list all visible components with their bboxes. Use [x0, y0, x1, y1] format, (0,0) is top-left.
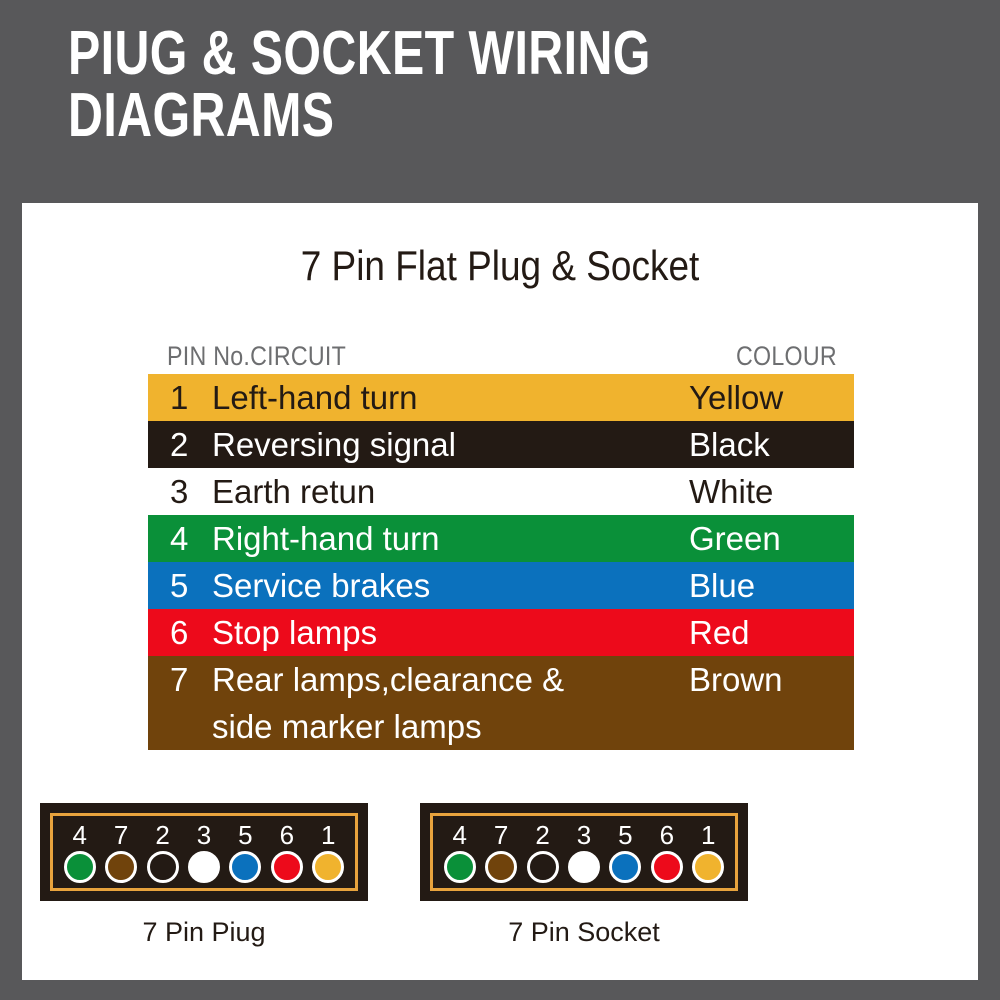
connector-pin-number: 7 — [494, 821, 508, 849]
row-pin-number: 4 — [170, 515, 208, 562]
table-row: 3Earth retunWhite — [148, 468, 854, 515]
connector-pin: 3 — [183, 821, 224, 883]
table-row: 7Rear lamps,clearance & side marker lamp… — [148, 656, 854, 750]
row-circuit-label: Earth retun — [208, 468, 685, 515]
connector-pin-number: 6 — [280, 821, 294, 849]
socket-diagram-block: 47235617 Pin Socket — [420, 803, 748, 947]
plug-caption: 7 Pin Piug — [40, 917, 368, 947]
connector-pin-dot — [444, 851, 476, 883]
content-card: 7 Pin Flat Plug & Socket PIN No.CIRCUIT … — [22, 203, 978, 980]
connector-pin-number: 7 — [114, 821, 128, 849]
connector-pin-number: 3 — [577, 821, 591, 849]
connector-pin: 5 — [605, 821, 646, 883]
row-colour-label: Green — [685, 515, 854, 562]
row-pin-number: 3 — [170, 468, 208, 515]
connector-pin: 3 — [563, 821, 604, 883]
connector-pin-number: 6 — [660, 821, 674, 849]
row-circuit-label: Stop lamps — [208, 609, 685, 656]
row-circuit-label: Rear lamps,clearance & side marker lamps — [208, 656, 685, 750]
connector-pin-dot — [527, 851, 559, 883]
row-pin-number: 5 — [170, 562, 208, 609]
socket-connector-body: 4723561 — [420, 803, 748, 901]
connector-pin-number: 1 — [701, 821, 715, 849]
table-row: 5Service brakesBlue — [148, 562, 854, 609]
row-colour-label: Brown — [685, 656, 854, 703]
header-band: PIUG & SOCKET WIRING DIAGRAMS — [0, 0, 1000, 203]
socket-caption: 7 Pin Socket — [420, 917, 748, 947]
connector-pin-dot — [651, 851, 683, 883]
row-pin-number: 1 — [170, 374, 208, 421]
connector-pin-dot — [147, 851, 179, 883]
connector-pin: 1 — [688, 821, 729, 883]
plug-connector-body: 4723561 — [40, 803, 368, 901]
wiring-table: PIN No.CIRCUIT COLOUR 1Left-hand turnYel… — [148, 339, 854, 750]
connector-pin-dot — [609, 851, 641, 883]
row-circuit-label: Left-hand turn — [208, 374, 685, 421]
page-title: PIUG & SOCKET WIRING DIAGRAMS — [68, 23, 754, 147]
connector-pin-number: 5 — [238, 821, 252, 849]
connector-pin-number: 2 — [535, 821, 549, 849]
connector-pin-dot — [105, 851, 137, 883]
table-row: 6Stop lampsRed — [148, 609, 854, 656]
connector-pin-number: 1 — [321, 821, 335, 849]
table-header-row: PIN No.CIRCUIT COLOUR — [148, 339, 854, 374]
row-colour-label: Yellow — [685, 374, 854, 421]
card-subtitle: 7 Pin Flat Plug & Socket — [79, 243, 920, 289]
row-colour-label: White — [685, 468, 854, 515]
table-row: 2Reversing signalBlack — [148, 421, 854, 468]
row-circuit-label: Service brakes — [208, 562, 685, 609]
connector-pin-number: 4 — [72, 821, 86, 849]
row-pin-number: 6 — [170, 609, 208, 656]
wiring-table-body: 1Left-hand turnYellow2Reversing signalBl… — [148, 374, 854, 750]
connector-pins-row: 4723561 — [59, 820, 349, 884]
connector-pin-dot — [188, 851, 220, 883]
connector-pin-dot — [568, 851, 600, 883]
connector-pin: 1 — [308, 821, 349, 883]
connector-pin: 2 — [522, 821, 563, 883]
connector-pin: 6 — [646, 821, 687, 883]
connector-pin: 2 — [142, 821, 183, 883]
connector-pin-number: 3 — [197, 821, 211, 849]
connector-pin-dot — [64, 851, 96, 883]
connector-frame: 4723561 — [50, 813, 358, 891]
row-pin-number: 2 — [170, 421, 208, 468]
row-pin-number: 7 — [170, 656, 208, 703]
connector-pin-dot — [229, 851, 261, 883]
connector-pin: 4 — [59, 821, 100, 883]
connector-pin: 5 — [225, 821, 266, 883]
row-colour-label: Black — [685, 421, 854, 468]
row-colour-label: Red — [685, 609, 854, 656]
connector-pin-dot — [692, 851, 724, 883]
connector-pin-number: 4 — [452, 821, 466, 849]
table-row: 4Right-hand turnGreen — [148, 515, 854, 562]
connector-pin: 4 — [439, 821, 480, 883]
connector-pin: 7 — [480, 821, 521, 883]
connector-pins-row: 4723561 — [439, 820, 729, 884]
connector-pin-number: 5 — [618, 821, 632, 849]
plug-diagram-block: 47235617 Pin Piug — [40, 803, 368, 947]
connector-pin-dot — [485, 851, 517, 883]
row-colour-label: Blue — [685, 562, 854, 609]
connector-pin: 7 — [100, 821, 141, 883]
row-circuit-label: Right-hand turn — [208, 515, 685, 562]
table-row: 1Left-hand turnYellow — [148, 374, 854, 421]
connector-pin-dot — [312, 851, 344, 883]
column-header-circuit: PIN No.CIRCUIT — [167, 343, 346, 370]
column-header-colour: COLOUR — [736, 343, 837, 370]
connector-frame: 4723561 — [430, 813, 738, 891]
connector-pin-number: 2 — [155, 821, 169, 849]
row-circuit-label: Reversing signal — [208, 421, 685, 468]
connector-pin-dot — [271, 851, 303, 883]
connector-pin: 6 — [266, 821, 307, 883]
